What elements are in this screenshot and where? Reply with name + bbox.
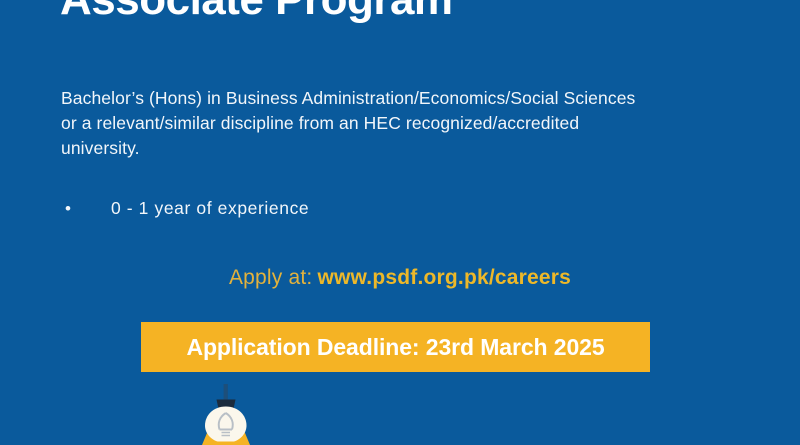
hanging-lightbulb-illustration <box>178 384 274 445</box>
deadline-text: Application Deadline: 23rd March 2025 <box>186 334 604 361</box>
apply-prefix-label: Apply at: <box>229 266 313 289</box>
eligibility-paragraph: Bachelor’s (Hons) in Business Administra… <box>61 86 761 161</box>
list-item: • 0 - 1 year of experience <box>61 196 761 221</box>
eligibility-line-1: Bachelor’s (Hons) in Business Administra… <box>61 86 761 111</box>
bulb-cord <box>224 384 228 400</box>
careers-url-link[interactable]: www.psdf.org.pk/careers <box>317 266 571 289</box>
job-advert-poster: Associate Program Bachelor’s (Hons) in B… <box>0 0 800 445</box>
page-title-text: Associate Program <box>60 0 760 26</box>
apply-instruction: Apply at:www.psdf.org.pk/careers <box>0 266 800 290</box>
requirements-list: • 0 - 1 year of experience <box>61 196 761 221</box>
requirement-label: 0 - 1 year of experience <box>111 196 309 220</box>
page-title: Associate Program <box>60 0 760 34</box>
deadline-banner: Application Deadline: 23rd March 2025 <box>141 322 650 372</box>
eligibility-line-3: university. <box>61 136 761 161</box>
eligibility-line-2: or a relevant/similar discipline from an… <box>61 111 761 136</box>
bullet-point-icon: • <box>61 197 111 221</box>
lightbulb-icon <box>178 384 274 445</box>
